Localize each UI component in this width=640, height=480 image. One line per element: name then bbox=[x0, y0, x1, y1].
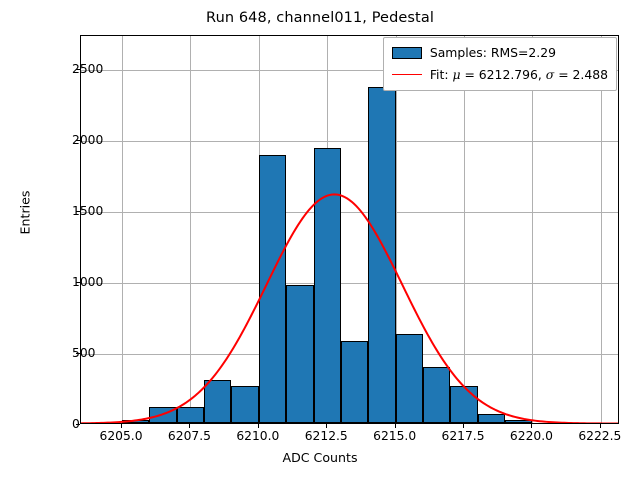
y-axis-label: Entries bbox=[18, 113, 33, 313]
legend-item-samples: Samples: RMS=2.29 bbox=[392, 43, 608, 62]
legend-fit-prefix: Fit: bbox=[430, 67, 453, 82]
x-tick-mark bbox=[463, 424, 464, 428]
x-tick-mark bbox=[600, 424, 601, 428]
legend-fit-mu-value: = 6212.796, bbox=[461, 67, 546, 82]
plot-axes: Samples: RMS=2.29 Fit: μ = 6212.796, σ =… bbox=[80, 35, 619, 424]
legend-fit-sigma-symbol: σ bbox=[546, 67, 554, 82]
x-axis-label: ADC Counts bbox=[0, 450, 640, 465]
legend-item-fit: Fit: μ = 6212.796, σ = 2.488 bbox=[392, 65, 608, 84]
x-tick-label: 6212.5 bbox=[305, 429, 348, 443]
chart-title: Run 648, channel011, Pedestal bbox=[0, 10, 640, 26]
x-tick-mark bbox=[189, 424, 190, 428]
x-tick-mark bbox=[395, 424, 396, 428]
x-tick-label: 6222.5 bbox=[578, 429, 621, 443]
x-tick-label: 6220.0 bbox=[510, 429, 553, 443]
legend-box: Samples: RMS=2.29 Fit: μ = 6212.796, σ =… bbox=[383, 37, 617, 91]
legend-fit-mu-symbol: μ bbox=[452, 67, 460, 82]
legend-swatch-samples-icon bbox=[392, 47, 422, 59]
x-tick-mark bbox=[326, 424, 327, 428]
x-tick-mark bbox=[258, 424, 259, 428]
legend-fit-sigma-value: = 2.488 bbox=[554, 67, 608, 82]
legend-label-fit: Fit: μ = 6212.796, σ = 2.488 bbox=[430, 67, 608, 82]
legend-swatch-fit-icon bbox=[392, 74, 422, 75]
figure-canvas: Run 648, channel011, Pedestal Samples: R… bbox=[0, 0, 640, 480]
x-tick-label: 6205.0 bbox=[100, 429, 143, 443]
x-tick-label: 6217.5 bbox=[442, 429, 485, 443]
x-tick-label: 6207.5 bbox=[168, 429, 211, 443]
legend-label-samples: Samples: RMS=2.29 bbox=[430, 45, 556, 60]
plot-area bbox=[81, 36, 618, 423]
x-tick-mark bbox=[531, 424, 532, 428]
x-tick-mark bbox=[121, 424, 122, 428]
x-tick-label: 6210.0 bbox=[236, 429, 279, 443]
x-tick-label: 6215.0 bbox=[373, 429, 416, 443]
gaussian-fit-curve bbox=[81, 36, 618, 423]
